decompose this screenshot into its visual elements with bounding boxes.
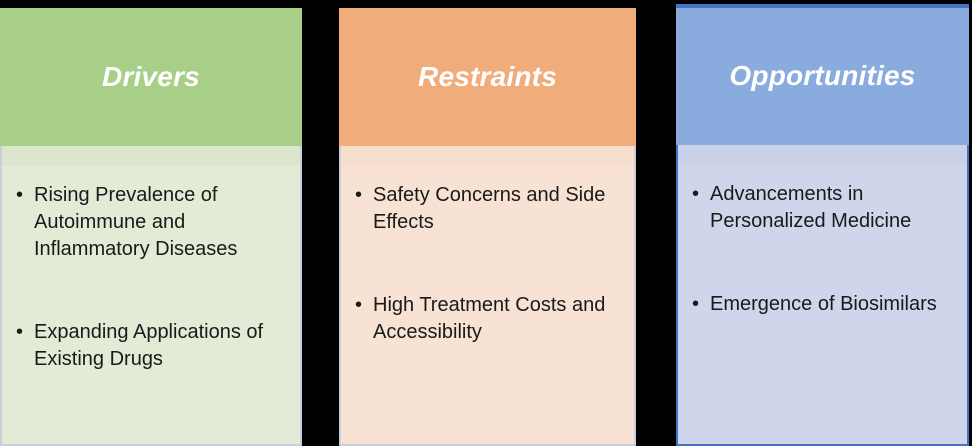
panel-restraints: Restraints • Safety Concerns and Side Ef…	[339, 0, 636, 446]
list-item: • High Treatment Costs and Accessibility	[351, 292, 620, 346]
list-item-label: High Treatment Costs and Accessibility	[373, 292, 620, 346]
panel-header-drivers: Drivers	[0, 8, 302, 146]
list-item: • Advancements in Personalized Medicine	[688, 181, 957, 235]
panel-drivers: Drivers • Rising Prevalence of Autoimmun…	[0, 0, 302, 446]
panel-title-restraints: Restraints	[418, 62, 557, 93]
panel-header-opportunities: Opportunities	[676, 4, 969, 145]
panel-body-restraints: • Safety Concerns and Side Effects • Hig…	[339, 146, 636, 446]
panel-title-drivers: Drivers	[102, 62, 200, 93]
panels-board: Drivers • Rising Prevalence of Autoimmun…	[0, 0, 972, 446]
list-item-label: Expanding Applications of Existing Drugs	[34, 319, 286, 373]
bullet-point-icon: •	[355, 182, 362, 209]
bullet-point-icon: •	[16, 182, 23, 209]
list-item-label: Emergence of Biosimilars	[710, 291, 957, 318]
panel-body-opportunities: • Advancements in Personalized Medicine …	[676, 145, 969, 446]
bullet-point-icon: •	[692, 291, 699, 318]
panel-opportunities: Opportunities • Advancements in Personal…	[676, 0, 969, 446]
bullet-point-icon: •	[355, 292, 362, 319]
bullet-list-restraints: • Safety Concerns and Side Effects • Hig…	[341, 146, 634, 346]
bullet-point-icon: •	[692, 181, 699, 208]
panel-header-restraints: Restraints	[339, 8, 636, 146]
bullet-list-drivers: • Rising Prevalence of Autoimmune and In…	[2, 146, 300, 373]
list-item: • Safety Concerns and Side Effects	[351, 182, 620, 236]
list-item: • Rising Prevalence of Autoimmune and In…	[12, 182, 286, 263]
bullet-point-icon: •	[16, 319, 23, 346]
list-item: • Emergence of Biosimilars	[688, 291, 957, 318]
list-item-label: Safety Concerns and Side Effects	[373, 182, 620, 236]
bullet-list-opportunities: • Advancements in Personalized Medicine …	[678, 145, 967, 318]
panel-title-opportunities: Opportunities	[729, 61, 915, 92]
list-item-label: Rising Prevalence of Autoimmune and Infl…	[34, 182, 286, 263]
list-item-label: Advancements in Personalized Medicine	[710, 181, 957, 235]
panel-body-drivers: • Rising Prevalence of Autoimmune and In…	[0, 146, 302, 446]
list-item: • Expanding Applications of Existing Dru…	[12, 319, 286, 373]
